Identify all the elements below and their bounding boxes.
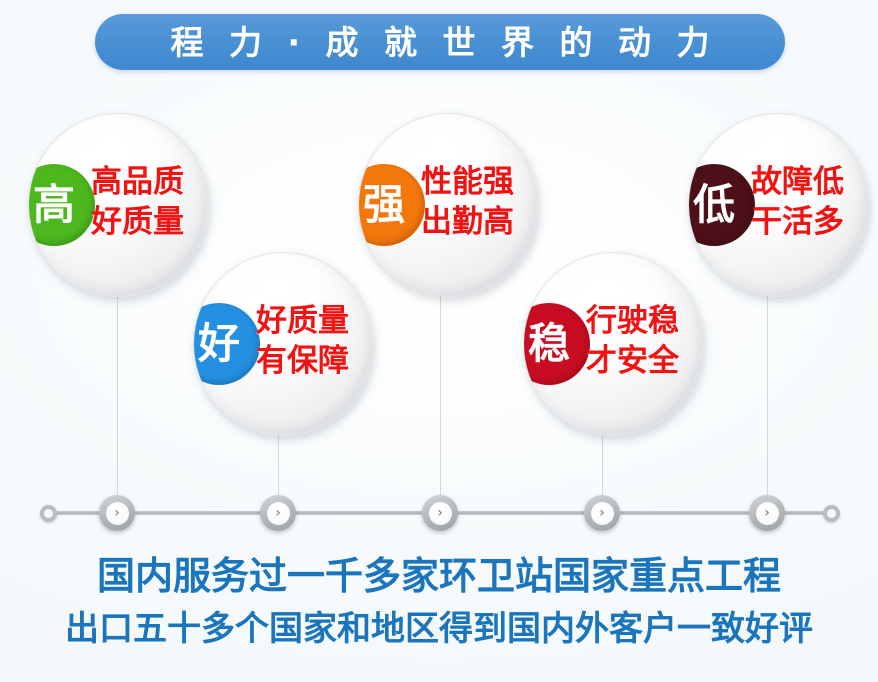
chevron-glyph: › xyxy=(275,506,281,520)
feature-text-1: 高品质 好质量 xyxy=(91,162,184,243)
feature-text-5: 故障低 干活多 xyxy=(751,162,844,243)
badge-icon-di: 低 xyxy=(688,164,755,246)
page-title: 程 力 · 成 就 世 界 的 动 力 xyxy=(164,26,717,59)
chevron-glyph: › xyxy=(764,506,770,520)
feature-line-3b: 出勤高 xyxy=(421,202,514,242)
feature-text-4: 行驶稳 才安全 xyxy=(586,301,679,382)
stem-connector-1 xyxy=(117,283,118,511)
timeline-cap-right xyxy=(823,505,840,522)
feature-line-2b: 有保障 xyxy=(256,341,349,381)
badge-icon-hao: 好 xyxy=(193,303,260,385)
feature-line-2a: 好质量 xyxy=(256,301,349,341)
feature-bubble-4[interactable]: 稳 行驶稳 才安全 xyxy=(523,252,703,436)
chevron-right-icon: › xyxy=(756,502,779,525)
feature-bubble-1[interactable]: 高 高品质 好质量 xyxy=(28,113,208,297)
stem-connector-3 xyxy=(440,283,441,511)
footer-line-1: 国内服务过一千多家环卫站国家重点工程 xyxy=(0,549,878,605)
feature-bubble-3[interactable]: 强 性能强 出勤高 xyxy=(358,113,538,297)
poster-canvas: 程 力 · 成 就 世 界 的 动 力 高 高品质 好质量 好 好质量 有保障 … xyxy=(0,0,878,682)
feature-bubble-5[interactable]: 低 故障低 干活多 xyxy=(688,113,868,297)
badge-icon-wen: 稳 xyxy=(523,303,590,385)
feature-line-5b: 干活多 xyxy=(751,202,844,242)
chevron-right-icon: › xyxy=(429,502,452,525)
feature-line-4b: 才安全 xyxy=(586,341,679,381)
chevron-right-icon: › xyxy=(106,502,129,525)
chevron-glyph: › xyxy=(114,506,120,520)
feature-line-1a: 高品质 xyxy=(91,162,184,202)
badge-icon-gao: 高 xyxy=(28,164,95,246)
feature-text-3: 性能强 出勤高 xyxy=(421,162,514,243)
feature-bubble-2[interactable]: 好 好质量 有保障 xyxy=(193,252,373,436)
badge-label: 稳 xyxy=(528,323,570,365)
header-banner: 程 力 · 成 就 世 界 的 动 力 xyxy=(95,14,785,70)
feature-line-4a: 行驶稳 xyxy=(586,301,679,341)
timeline-node-5[interactable]: › xyxy=(749,495,785,531)
badge-label: 低 xyxy=(693,184,735,226)
badge-label: 强 xyxy=(363,184,405,226)
timeline-node-4[interactable]: › xyxy=(584,495,620,531)
chevron-right-icon: › xyxy=(591,502,614,525)
timeline-cap-left xyxy=(40,505,57,522)
footer-text-block: 国内服务过一千多家环卫站国家重点工程 出口五十多个国家和地区得到国内外客户一致好… xyxy=(0,549,878,655)
stem-connector-5 xyxy=(767,283,768,511)
footer-line-2: 出口五十多个国家和地区得到国内外客户一致好评 xyxy=(0,605,878,655)
chevron-right-icon: › xyxy=(267,502,290,525)
badge-icon-qiang: 强 xyxy=(358,164,425,246)
timeline-node-1[interactable]: › xyxy=(99,495,135,531)
chevron-glyph: › xyxy=(599,506,605,520)
timeline-node-2[interactable]: › xyxy=(260,495,296,531)
badge-label: 高 xyxy=(33,184,75,226)
timeline-node-3[interactable]: › xyxy=(422,495,458,531)
feature-line-5a: 故障低 xyxy=(751,162,844,202)
feature-line-3a: 性能强 xyxy=(421,162,514,202)
badge-label: 好 xyxy=(198,323,240,365)
feature-line-1b: 好质量 xyxy=(91,202,184,242)
chevron-glyph: › xyxy=(437,506,443,520)
feature-text-2: 好质量 有保障 xyxy=(256,301,349,382)
